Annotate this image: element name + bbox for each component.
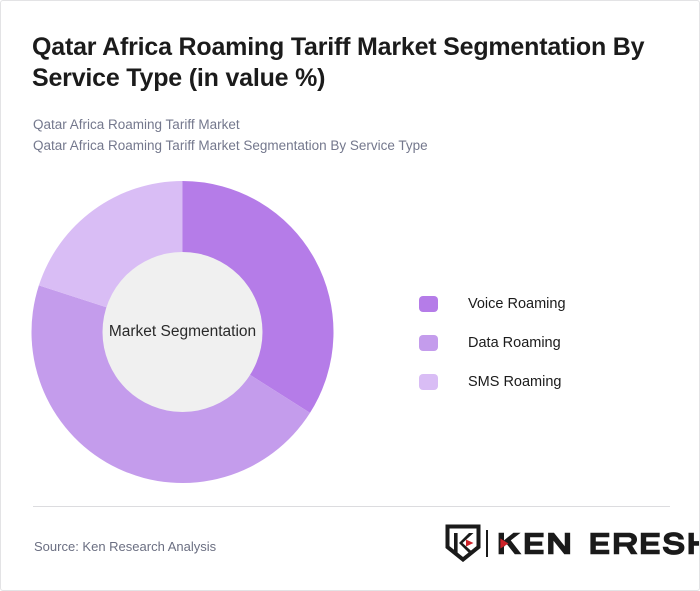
subtitle-segmentation: Qatar Africa Roaming Tariff Market Segme… xyxy=(33,135,653,156)
ken-research-logo xyxy=(445,523,700,563)
legend-item-label: SMS Roaming xyxy=(468,374,561,390)
legend-swatch-icon xyxy=(419,335,438,351)
page-title: Qatar Africa Roaming Tariff Market Segme… xyxy=(32,32,662,94)
legend-item-label: Data Roaming xyxy=(468,335,561,351)
legend-item[interactable]: Voice Roaming xyxy=(419,284,566,323)
chart-legend: Voice RoamingData RoamingSMS Roaming xyxy=(419,284,566,401)
logo-divider xyxy=(486,530,488,557)
legend-item-label: Voice Roaming xyxy=(468,296,566,312)
subtitle-market: Qatar Africa Roaming Tariff Market xyxy=(33,114,653,135)
donut-center-label: Market Segmentation xyxy=(82,321,283,343)
ken-research-shield-icon xyxy=(445,524,481,562)
source-note: Source: Ken Research Analysis xyxy=(34,539,216,554)
legend-swatch-icon xyxy=(419,296,438,312)
legend-swatch-icon xyxy=(419,374,438,390)
subtitle-block: Qatar Africa Roaming Tariff Market Qatar… xyxy=(33,114,653,156)
legend-item[interactable]: SMS Roaming xyxy=(419,362,566,401)
legend-item[interactable]: Data Roaming xyxy=(419,323,566,362)
chart-card: Qatar Africa Roaming Tariff Market Segme… xyxy=(0,0,700,591)
ken-research-wordmark xyxy=(495,530,700,557)
footer-divider xyxy=(33,506,670,507)
